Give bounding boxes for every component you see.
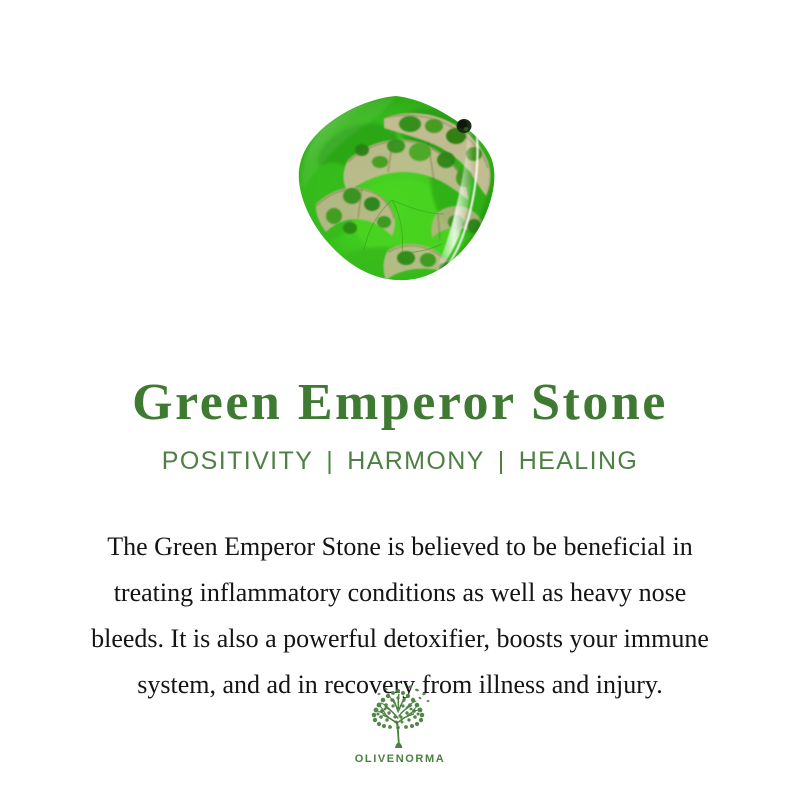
drill-hole-icon: [457, 119, 472, 133]
product-description: The Green Emperor Stone is believed to b…: [40, 524, 760, 708]
tree-icon: [362, 684, 438, 750]
product-info-card: Green Emperor Stone POSITIVITY|HARMONY|H…: [0, 0, 800, 800]
keyword-separator-1: |: [313, 447, 347, 475]
brand-name: OLIVENORMA: [355, 753, 446, 765]
green-emperor-stone-image: [288, 92, 504, 292]
keyword-healing: HEALING: [519, 447, 639, 475]
keyword-separator-2: |: [485, 447, 519, 475]
description-line: The Green Emperor Stone is believed to b…: [40, 524, 760, 570]
description-line: treating inflammatory conditions as well…: [40, 570, 760, 616]
keyword-positivity: POSITIVITY: [162, 447, 314, 475]
brand-logo: OLIVENORMA: [0, 684, 800, 765]
keyword-line: POSITIVITY|HARMONY|HEALING: [0, 447, 800, 476]
product-image-area: [0, 0, 800, 330]
page-title: Green Emperor Stone: [0, 374, 800, 431]
description-line: bleeds. It is also a powerful detoxifier…: [40, 616, 760, 662]
keyword-harmony: HARMONY: [347, 447, 485, 475]
